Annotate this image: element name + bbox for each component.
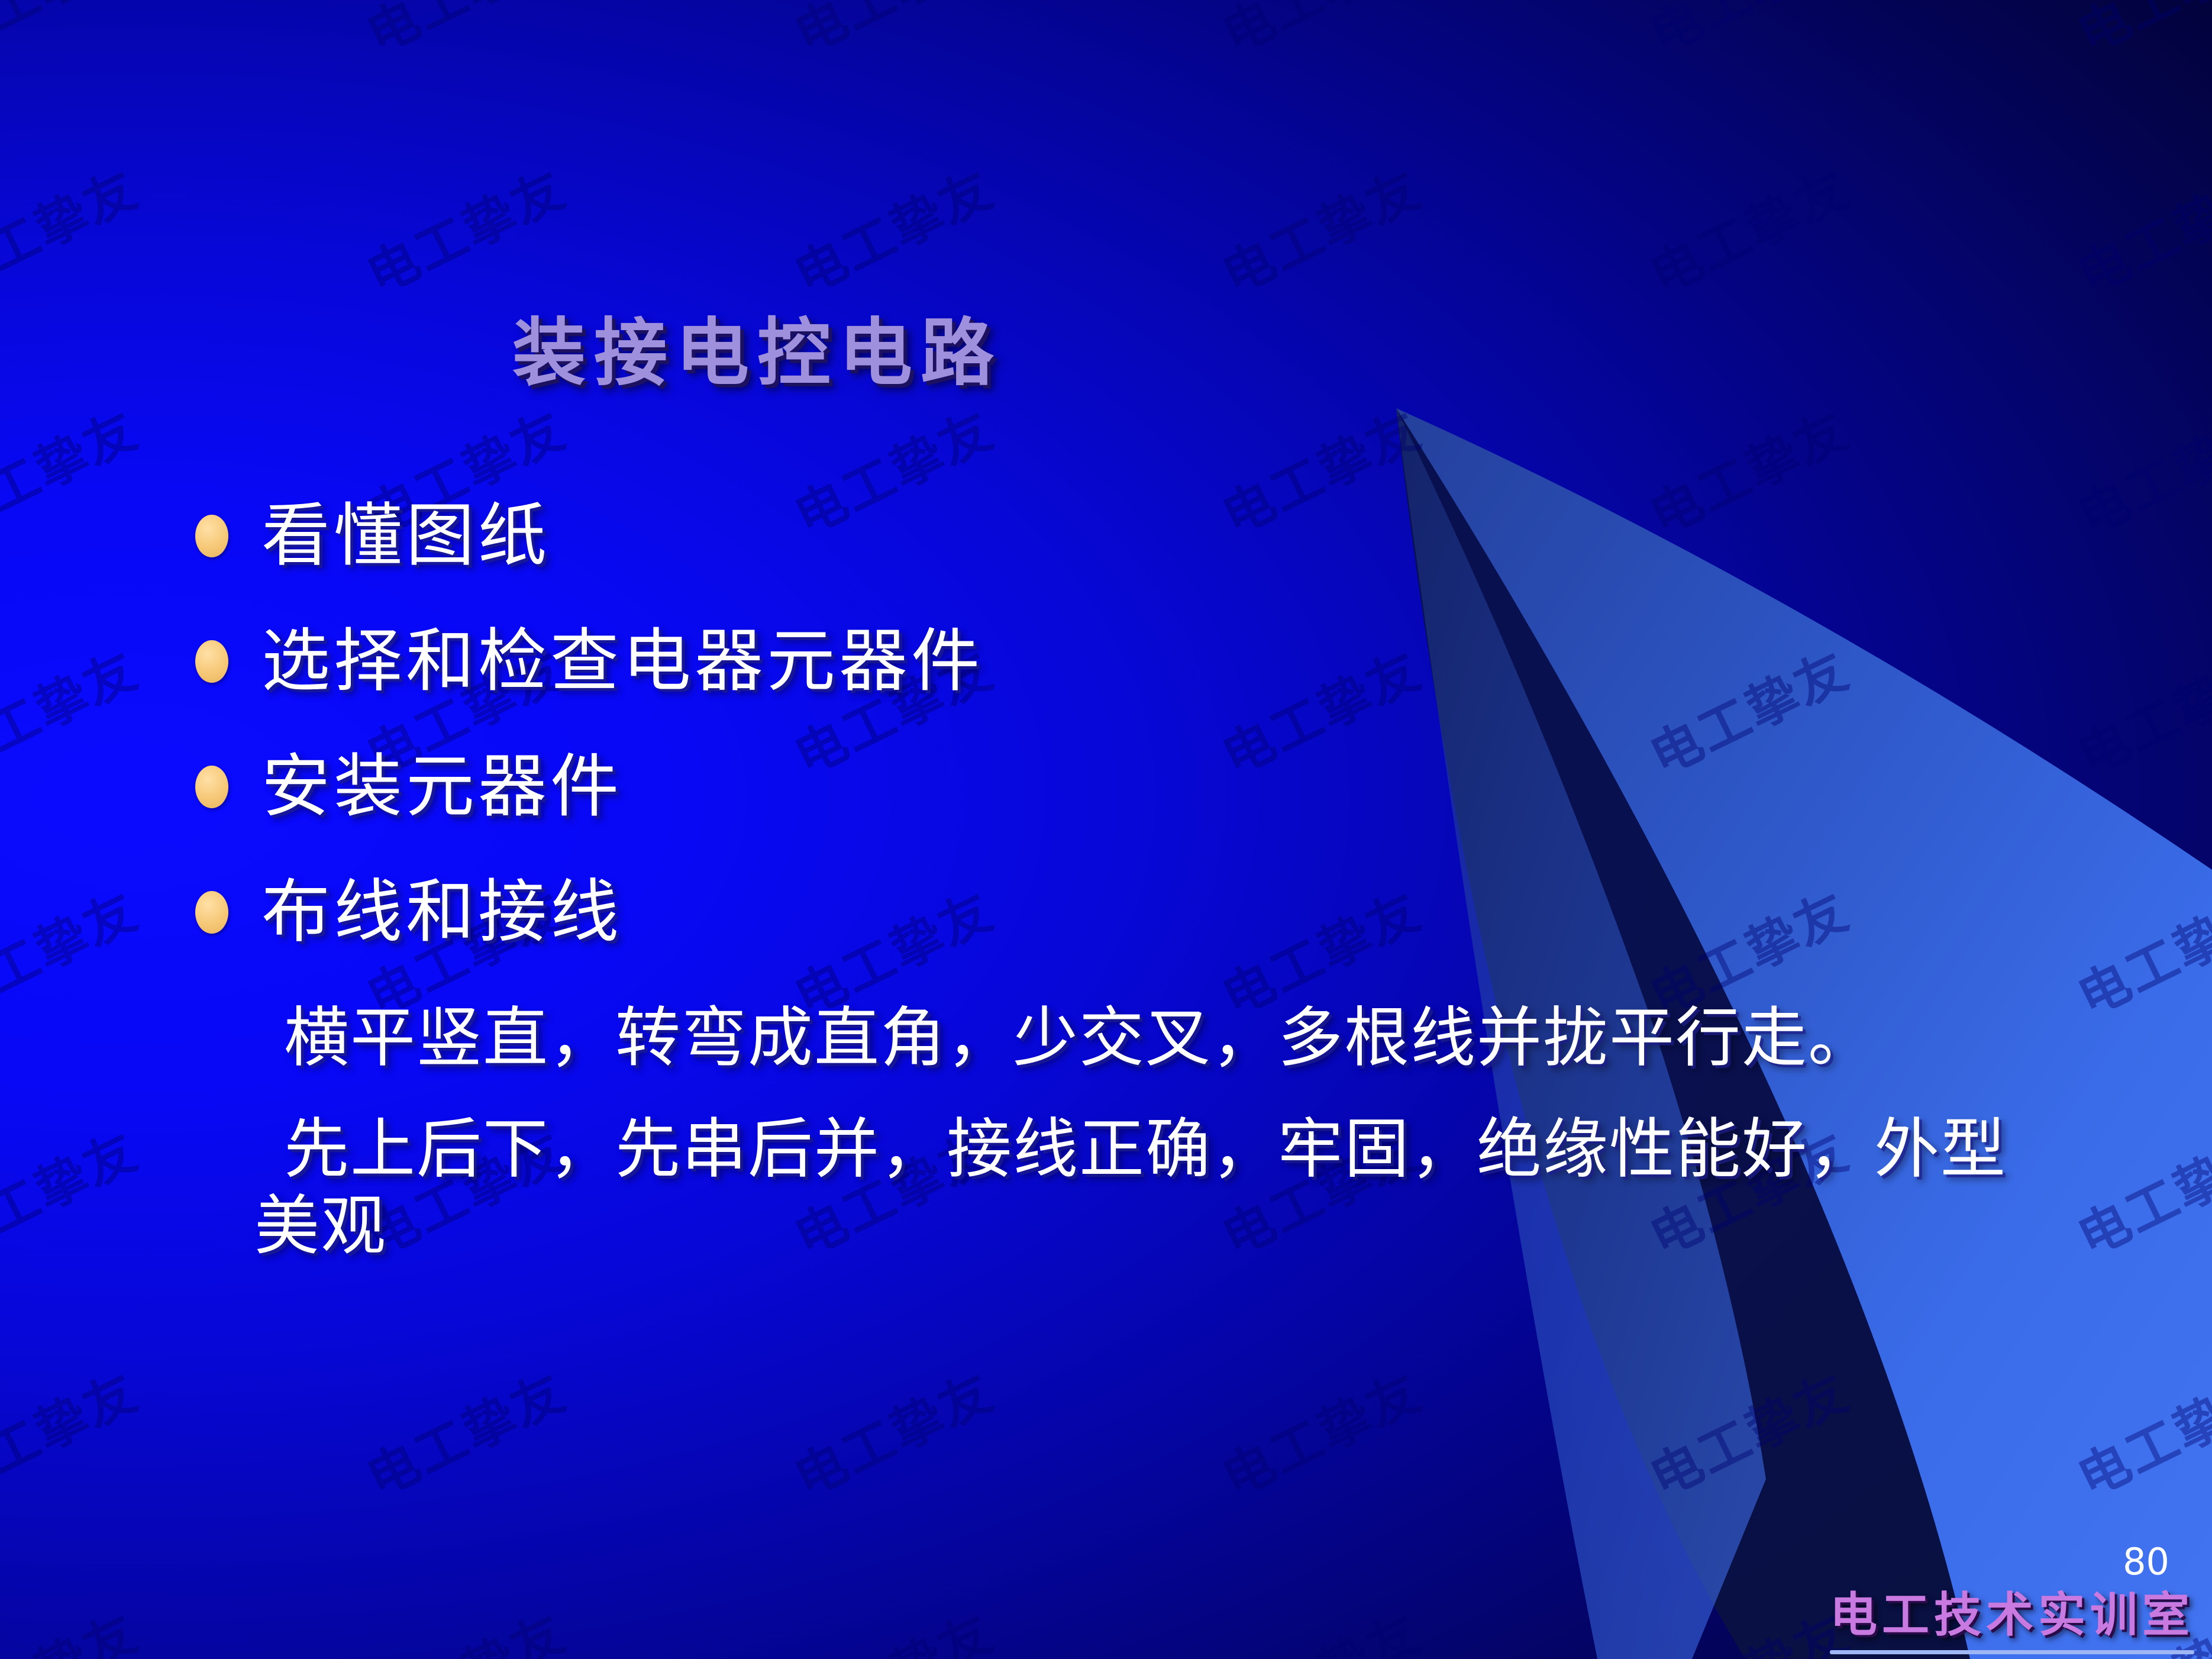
filled-circle-bullet-icon (195, 515, 228, 557)
body-paragraph: 先上后下，先串后并，接线正确，牢固，绝缘性能好，外型美观 (254, 1111, 2059, 1265)
list-item: 布线和接线 (195, 850, 1793, 975)
list-item: 看懂图纸 (195, 473, 1793, 599)
list-item-label: 看懂图纸 (261, 502, 550, 570)
body-paragraphs: 横平竖直，转弯成直角，少交叉，多根线并拢平行走。 先上后下，先串后并，接线正确，… (254, 1000, 2059, 1299)
bullet-list: 看懂图纸 选择和检查电器元器件 安装元器件 布线和接线 (195, 473, 1793, 975)
body-paragraph: 横平竖直，转弯成直角，少交叉，多根线并拢平行走。 (254, 1000, 2059, 1077)
footer-logo-underline (1830, 1650, 2194, 1654)
presentation-slide: 电工挚友 电工挚友 电工挚友 电工挚友 电工挚友 电工挚友 电工挚友 电工挚友 … (0, 0, 2212, 1659)
filled-circle-bullet-icon (195, 766, 228, 808)
filled-circle-bullet-icon (195, 640, 228, 683)
list-item-label: 布线和接线 (261, 878, 622, 947)
list-item: 选择和检查电器元器件 (195, 599, 1793, 724)
page-title: 装接电控电路 (0, 293, 1515, 399)
footer-logo-label: 电工技术实训室 (1830, 1577, 2194, 1645)
filled-circle-bullet-icon (195, 891, 228, 934)
list-item-label: 选择和检查电器元器件 (261, 627, 983, 696)
footer-logo: 电工技术实训室 (1830, 1577, 2194, 1654)
slide-content: 装接电控电路 看懂图纸 选择和检查电器元器件 安装元器件 布线和接线 横平竖直，… (0, 0, 2212, 1659)
list-item: 安装元器件 (195, 724, 1793, 850)
list-item-label: 安装元器件 (261, 753, 622, 821)
